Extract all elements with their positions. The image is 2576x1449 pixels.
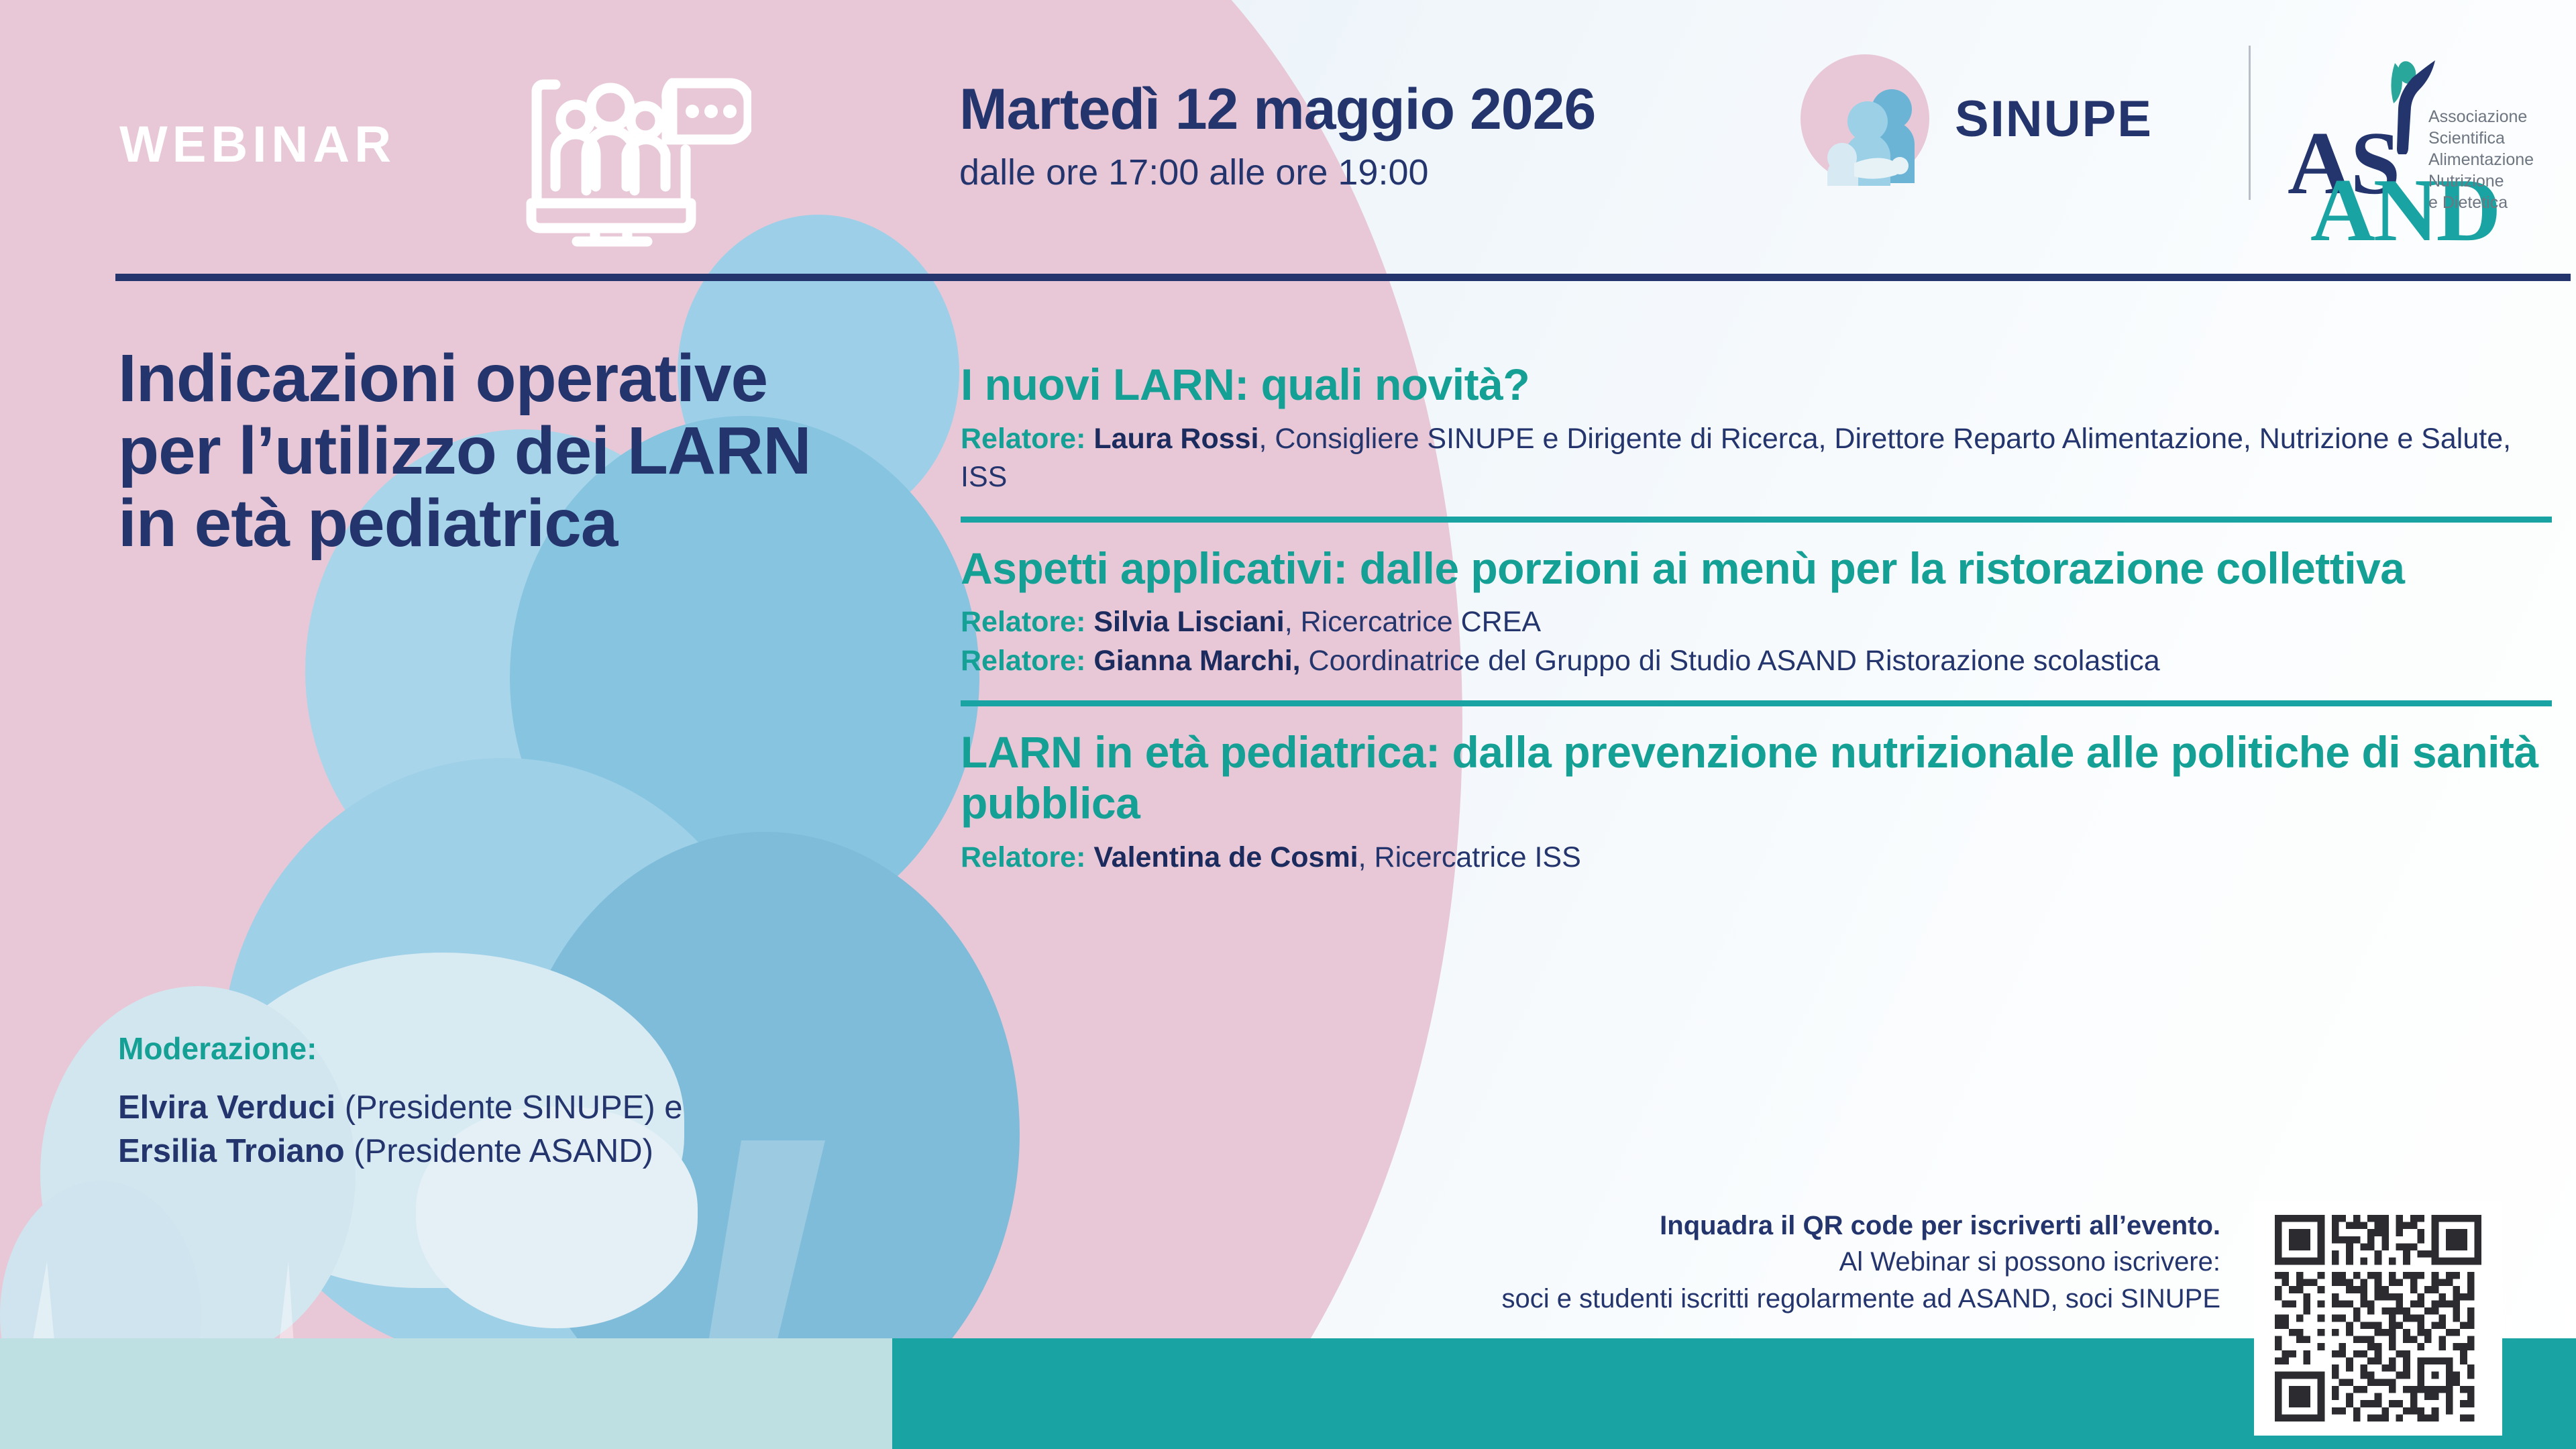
asand-tagline-line-3: Alimentazione <box>2428 149 2534 170</box>
sinupe-family-circle-mark <box>1798 52 1932 186</box>
speaker-role-label: Relatore: <box>961 841 1085 873</box>
event-date-block: Martedì 12 maggio 2026 dalle ore 17:00 a… <box>959 80 1595 191</box>
moderator-1: Elvira Verduci (Presidente SINUPE) e <box>118 1086 910 1130</box>
moderation-label: Moderazione: <box>118 1032 910 1066</box>
asand-tagline-line-1: Associazione <box>2428 106 2534 127</box>
moderator-2: Ersilia Troiano (Presidente ASAND) <box>118 1130 910 1174</box>
speaker-affiliation: Coordinatrice del Gruppo di Studio ASAND… <box>1301 645 2160 677</box>
event-date: Martedì 12 maggio 2026 <box>959 80 1595 138</box>
registration-note-line-2: Al Webinar si possono iscrivere: <box>1140 1244 2220 1280</box>
session-item-1: I nuovi LARN: quali novità? Relatore: La… <box>961 359 2552 496</box>
session-2-speaker-1: Relatore: Silvia Lisciani, Ricercatrice … <box>961 603 2552 641</box>
session-list: I nuovi LARN: quali novità? Relatore: La… <box>961 359 2552 877</box>
session-3-speaker-1: Relatore: Valentina de Cosmi, Ricercatri… <box>961 839 2552 877</box>
event-time: dalle ore 17:00 alle ore 19:00 <box>959 154 1595 191</box>
speaker-affiliation: , Ricercatrice ISS <box>1358 841 1581 873</box>
sinupe-logo: SINUPE <box>1798 52 2153 186</box>
header-divider-rule <box>115 274 2571 281</box>
logo-area: SINUPE AS AND Associazione Scientifica A… <box>1778 15 2576 250</box>
webinar-monitor-people-icon <box>517 59 751 247</box>
logo-separator <box>2249 46 2251 200</box>
speaker-affiliation: , Ricercatrice CREA <box>1285 606 1541 638</box>
registration-note: Inquadra il QR code per iscriverti all’e… <box>1140 1207 2220 1317</box>
session-1-speaker-1: Relatore: Laura Rossi, Consigliere SINUP… <box>961 420 2552 496</box>
speaker-name: Gianna Marchi, <box>1093 645 1300 677</box>
asand-tagline-line-2: Scientifica <box>2428 127 2534 149</box>
moderator-2-role: (Presidente ASAND) <box>345 1133 653 1169</box>
speaker-name: Valentina de Cosmi <box>1093 841 1358 873</box>
moderator-2-name: Ersilia Troiano <box>118 1133 345 1169</box>
asand-logo: AS AND Associazione Scientifica Alimenta… <box>2286 34 2568 235</box>
speaker-role-label: Relatore: <box>961 423 1085 455</box>
asand-tagline-line-4: Nutrizione <box>2428 170 2534 192</box>
session-2-speaker-2: Relatore: Gianna Marchi, Coordinatrice d… <box>961 642 2552 680</box>
sinupe-wordmark: SINUPE <box>1955 90 2153 148</box>
page-title: Indicazioni operative per l’utilizzo dei… <box>118 342 869 559</box>
webinar-poster: WEBINAR Martedì 12 maggio 2026 <box>0 0 2576 1449</box>
session-divider-2 <box>961 700 2552 706</box>
session-1-title: I nuovi LARN: quali novità? <box>961 359 2552 411</box>
speaker-role-label: Relatore: <box>961 606 1085 638</box>
speaker-name: Laura Rossi <box>1093 423 1258 455</box>
qr-code-registration[interactable] <box>2275 1215 2481 1421</box>
moderator-1-role: (Presidente SINUPE) e <box>335 1089 682 1126</box>
session-3-title: LARN in età pediatrica: dalla prevenzion… <box>961 727 2552 829</box>
webinar-label: WEBINAR <box>119 115 396 174</box>
registration-note-line-3: soci e studenti iscritti regolarmente ad… <box>1140 1281 2220 1317</box>
asand-tagline-line-5: e Dietetica <box>2428 192 2534 213</box>
moderator-1-name: Elvira Verduci <box>118 1089 335 1126</box>
registration-note-line-1: Inquadra il QR code per iscriverti all’e… <box>1140 1207 2220 1244</box>
asand-tagline: Associazione Scientifica Alimentazione N… <box>2428 106 2534 213</box>
moderation-block: Moderazione: Elvira Verduci (Presidente … <box>118 1032 910 1174</box>
session-2-title: Aspetti applicativi: dalle porzioni ai m… <box>961 543 2552 594</box>
session-item-3: LARN in età pediatrica: dalla prevenzion… <box>961 727 2552 877</box>
qr-code-card[interactable] <box>2254 1201 2502 1436</box>
session-divider-1 <box>961 517 2552 523</box>
speaker-role-label: Relatore: <box>961 645 1085 677</box>
session-item-2: Aspetti applicativi: dalle porzioni ai m… <box>961 543 2552 680</box>
speaker-name: Silvia Lisciani <box>1093 606 1284 638</box>
footer-bar-left-tint <box>0 1338 892 1449</box>
